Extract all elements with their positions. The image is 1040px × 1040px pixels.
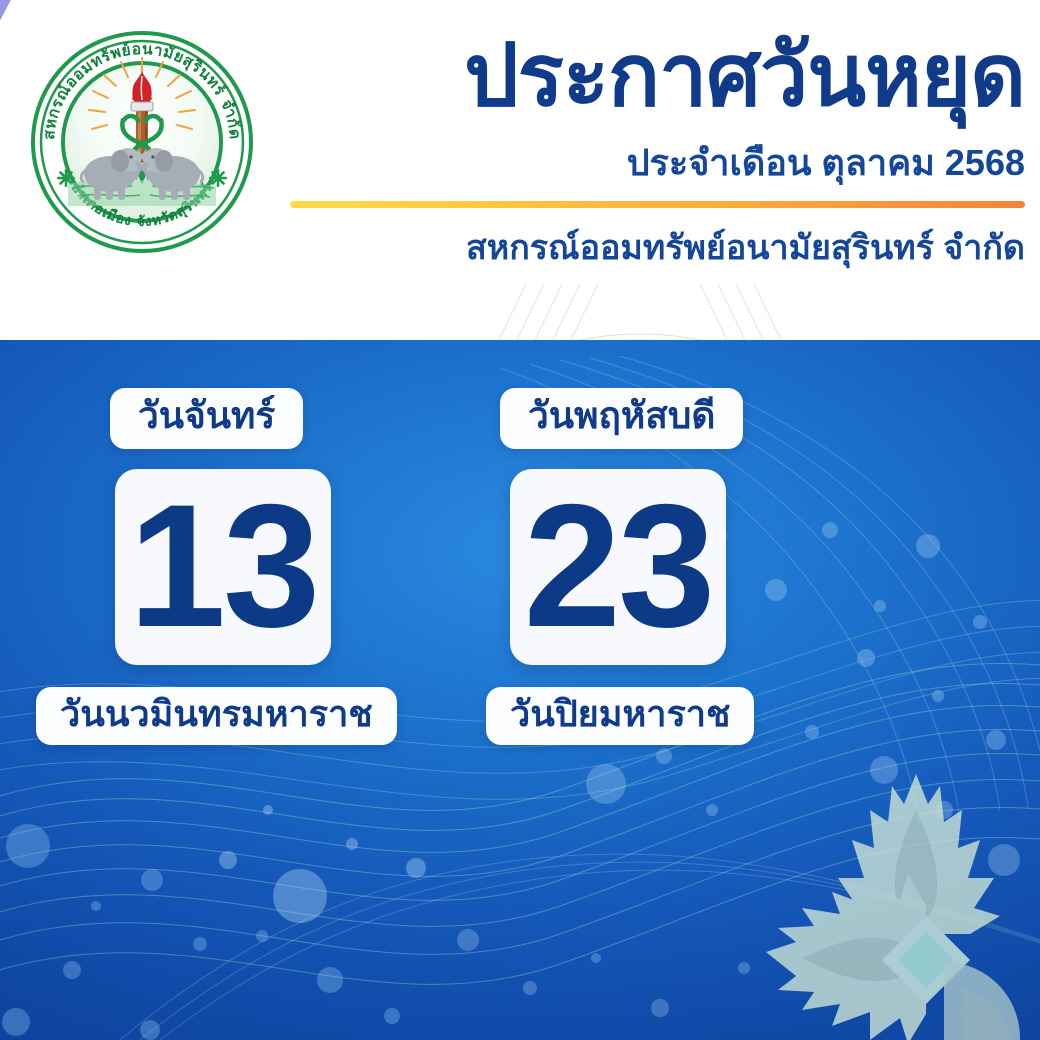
page-title: ประกาศวันหยุด <box>290 34 1025 118</box>
holiday-card: วันจันทร์ 13 วันนวมินทรมหาราช <box>110 388 530 745</box>
weekday-chip: วันจันทร์ <box>110 388 303 449</box>
month-subtitle: ประจำเดือน ตุลาคม 2568 <box>290 134 1025 191</box>
date-box: 23 <box>510 469 726 665</box>
holiday-name-chip: วันนวมินทรมหาราช <box>36 687 397 745</box>
holiday-announcement-poster: สหกรณ์ออมทรัพย์อนามัยสุรินทร์ จำกัด อำเภ… <box>0 0 1040 1040</box>
organization-name: สหกรณ์ออมทรัพย์อนามัยสุรินทร์ จำกัด <box>290 220 1025 274</box>
holiday-card: วันพฤหัสบดี 23 วันปิยมหาราช <box>500 388 920 745</box>
title-block: ประกาศวันหยุด ประจำเดือน ตุลาคม 2568 สหก… <box>290 34 1025 274</box>
cooperative-logo: สหกรณ์ออมทรัพย์อนามัยสุรินทร์ จำกัด อำเภ… <box>28 28 256 256</box>
weekday-chip: วันพฤหัสบดี <box>500 388 743 449</box>
date-number: 23 <box>524 479 713 654</box>
body-band: วันจันทร์ 13 วันนวมินทรมหาราช วันพฤหัสบด… <box>0 340 1040 1040</box>
gradient-divider <box>290 201 1025 208</box>
holiday-card-list: วันจันทร์ 13 วันนวมินทรมหาราช วันพฤหัสบด… <box>0 388 1040 808</box>
header-band: สหกรณ์ออมทรัพย์อนามัยสุรินทร์ จำกัด อำเภ… <box>0 0 1040 340</box>
date-box: 13 <box>115 469 331 665</box>
date-number: 13 <box>129 479 318 654</box>
holiday-name-chip: วันปิยมหาราช <box>486 687 754 745</box>
logo-star-right <box>209 169 227 187</box>
